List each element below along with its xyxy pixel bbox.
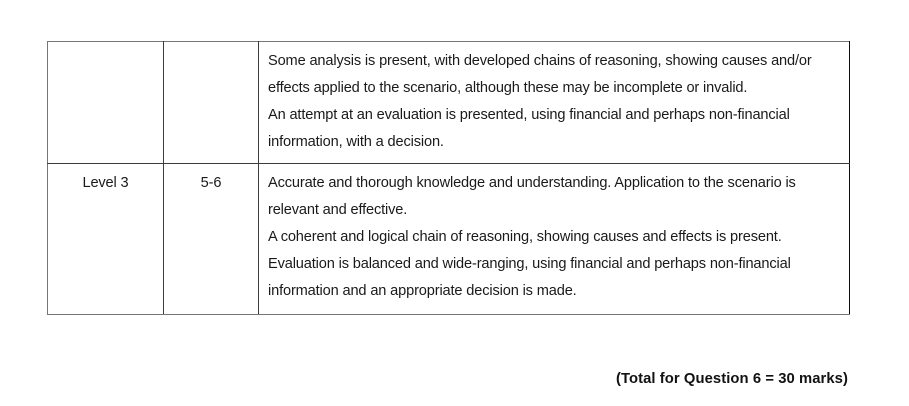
descriptor-paragraph: Some analysis is present, with developed… (268, 48, 835, 102)
table-cell-level (48, 42, 164, 164)
descriptor-paragraph: Accurate and thorough knowledge and unde… (268, 170, 835, 224)
table-cell-marks: 5-6 (164, 164, 259, 315)
mark-scheme-table: Some analysis is present, with developed… (47, 41, 850, 315)
table-cell-marks (164, 42, 259, 164)
marks-label (164, 42, 258, 48)
table-cell-descriptor: Some analysis is present, with developed… (259, 42, 850, 164)
table-cell-level: Level 3 (48, 164, 164, 315)
descriptor-paragraph: A coherent and logical chain of reasonin… (268, 224, 835, 251)
level-label: Level 3 (48, 164, 163, 197)
document-page: Some analysis is present, with developed… (0, 0, 909, 406)
descriptor-text: Some analysis is present, with developed… (259, 42, 849, 163)
table-row: Some analysis is present, with developed… (48, 42, 850, 164)
descriptor-text: Accurate and thorough knowledge and unde… (259, 164, 849, 314)
descriptor-paragraph: An attempt at an evaluation is presented… (268, 102, 835, 156)
total-marks-text: (Total for Question 6 = 30 marks) (0, 371, 848, 387)
table-row: Level 3 5-6 Accurate and thorough knowle… (48, 164, 850, 315)
table-cell-descriptor: Accurate and thorough knowledge and unde… (259, 164, 850, 315)
marks-label: 5-6 (164, 164, 258, 197)
table-body: Some analysis is present, with developed… (48, 42, 850, 315)
descriptor-paragraph: Evaluation is balanced and wide-ranging,… (268, 251, 835, 305)
level-label (48, 42, 163, 48)
